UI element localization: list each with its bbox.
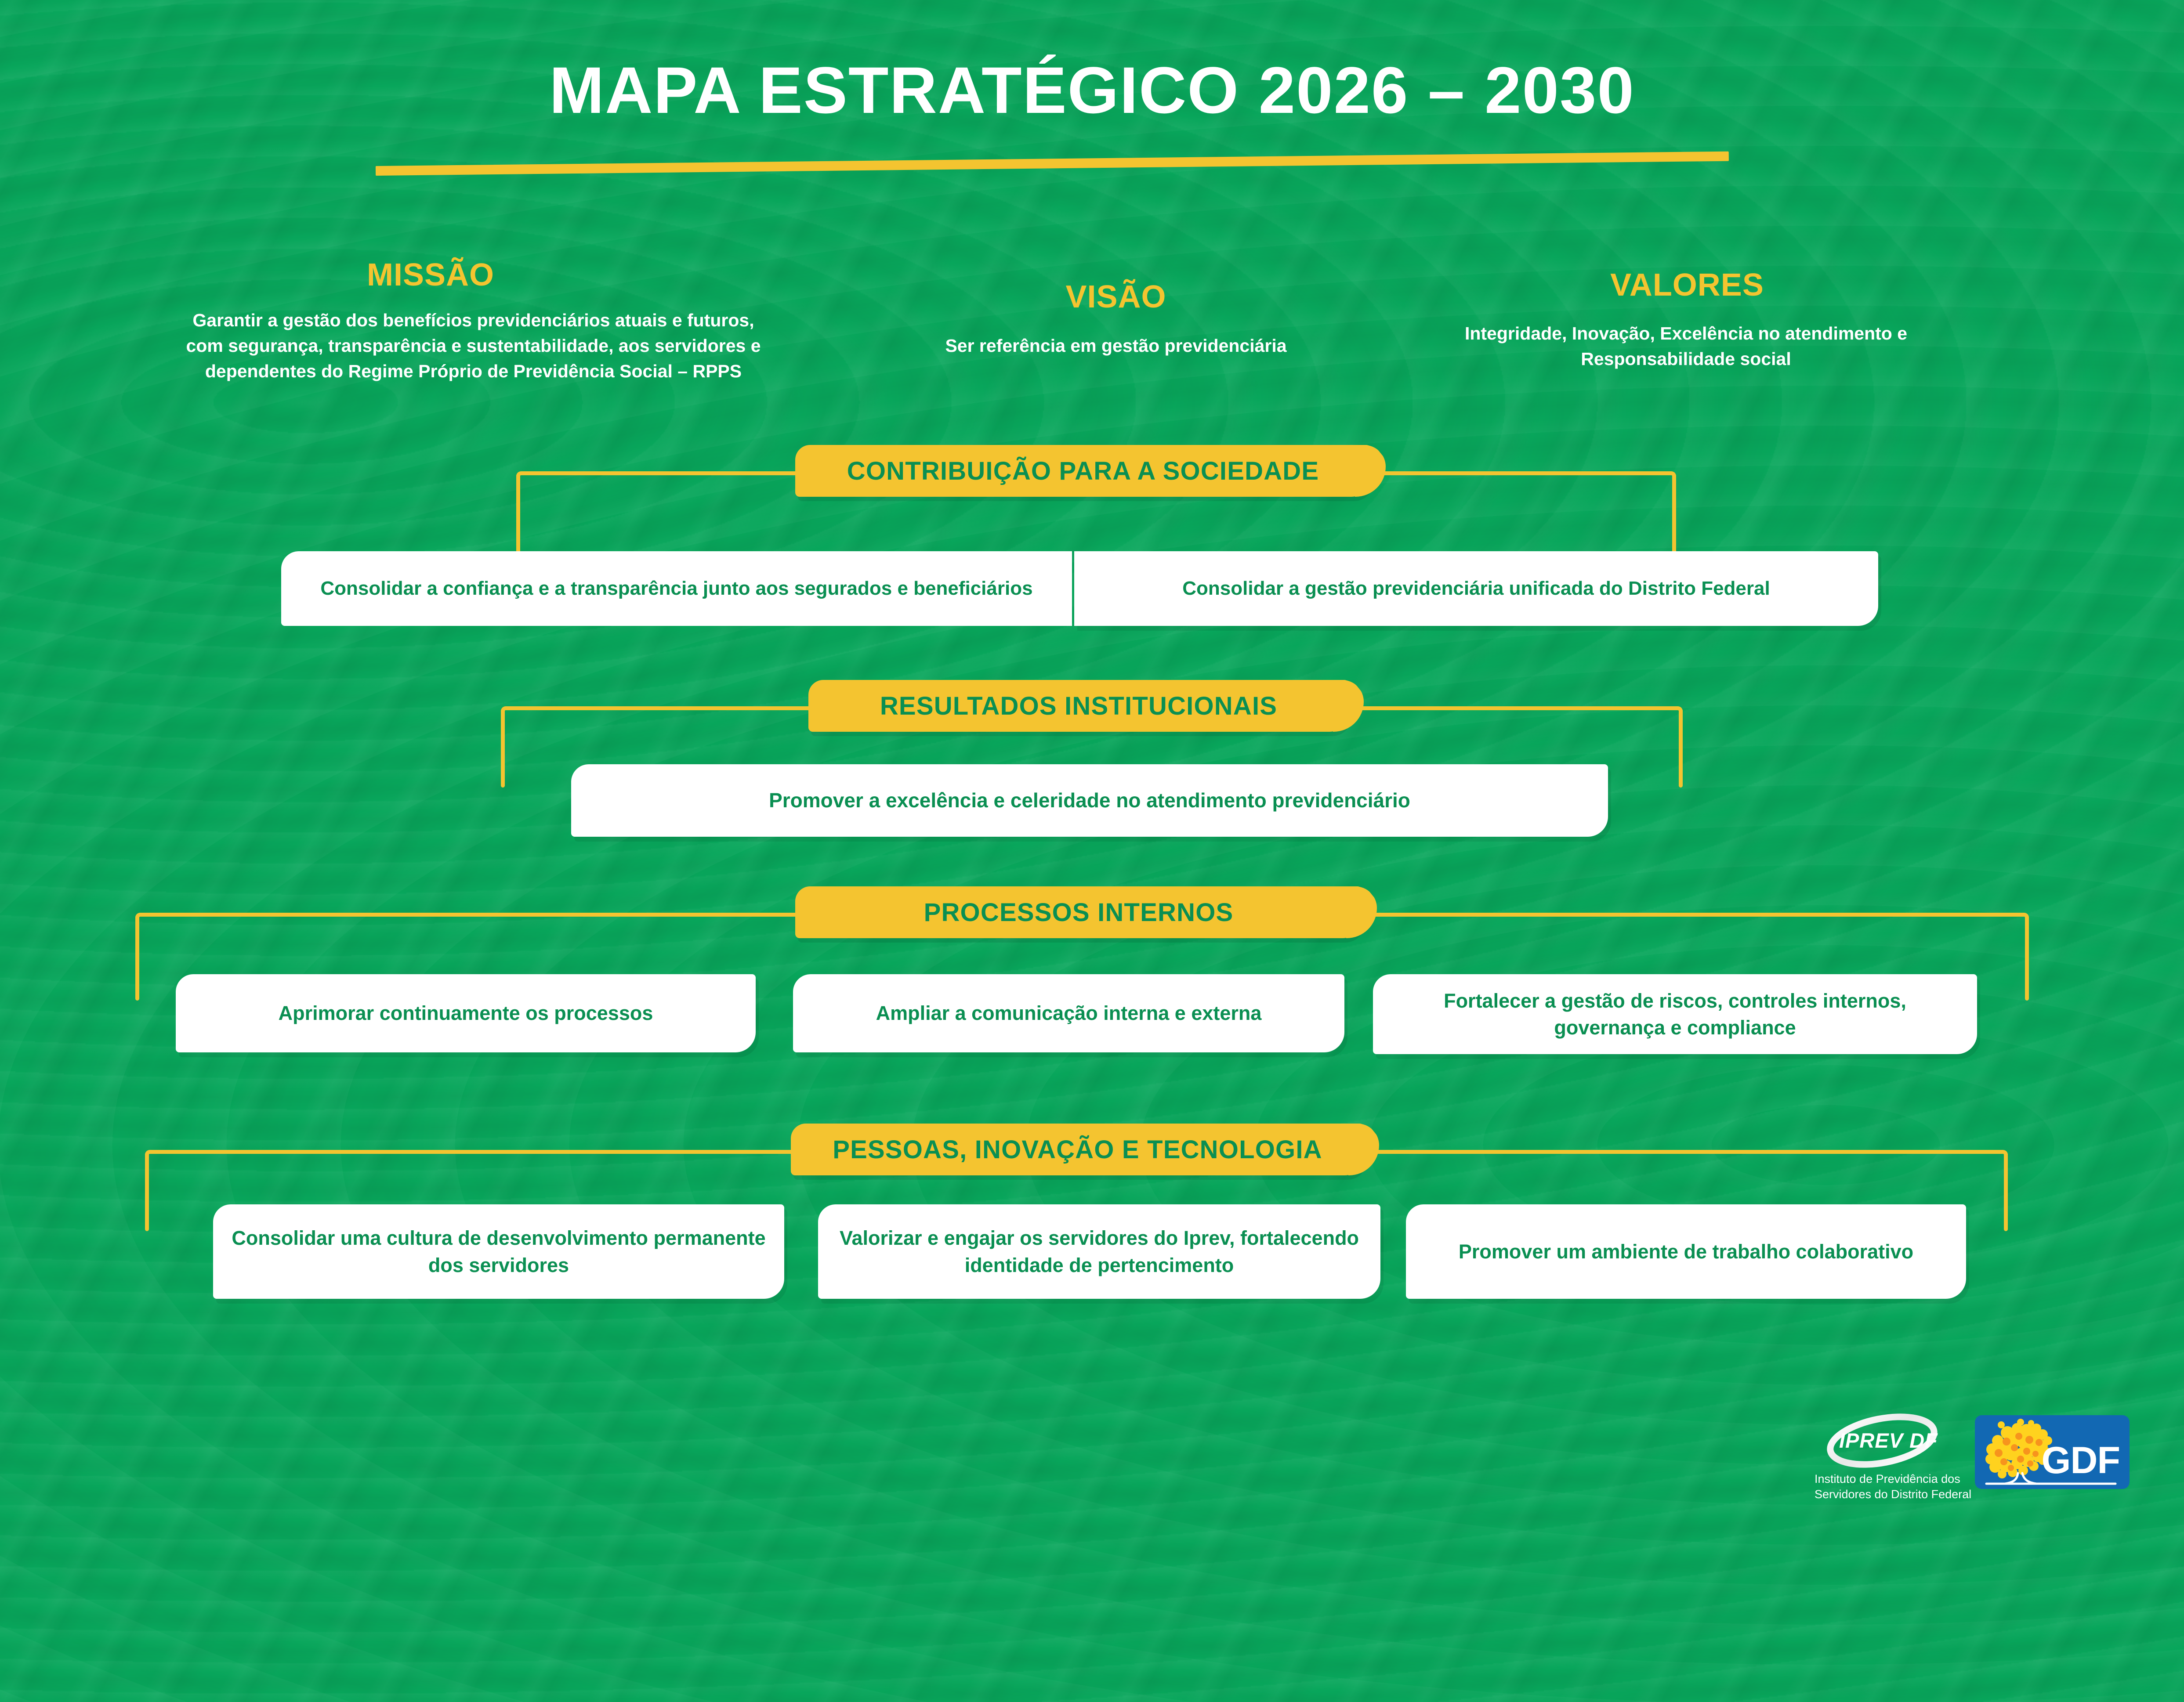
objective-card: Fortalecer a gestão de riscos, controles…	[1373, 974, 1977, 1054]
perspective-label: RESULTADOS INSTITUCIONAIS	[880, 691, 1277, 721]
objective-card: Valorizar e engajar os servidores do Ipr…	[818, 1204, 1380, 1299]
objective-card: Promover um ambiente de trabalho colabor…	[1406, 1204, 1966, 1299]
objective-text: Promover um ambiente de trabalho colabor…	[1459, 1238, 1913, 1265]
perspective-label: PESSOAS, INOVAÇÃO E TECNOLOGIA	[833, 1135, 1322, 1164]
perspective-banner-processos: PROCESSOS INTERNOS	[795, 886, 1362, 938]
objective-card: Aprimorar continuamente os processos	[176, 974, 756, 1052]
title-underline	[376, 152, 1729, 176]
mission-text: Garantir a gestão dos benefícios previde…	[174, 307, 773, 384]
objective-text: Valorizar e engajar os servidores do Ipr…	[833, 1225, 1365, 1278]
iprev-logo: IPREV DF Instituto de Previdência dos Se…	[1822, 1413, 1950, 1514]
vision-text: Ser referência em gestão previdenciária	[826, 333, 1406, 358]
objective-text: Ampliar a comunicação interna e externa	[876, 1000, 1262, 1026]
perspective-banner-pessoas: PESSOAS, INOVAÇÃO E TECNOLOGIA	[791, 1124, 1364, 1175]
vision-heading: VISÃO	[931, 279, 1300, 315]
gdf-wordmark: GDF	[2041, 1439, 2120, 1482]
objective-text: Consolidar a confiança e a transparência…	[320, 575, 1032, 602]
objective-card: Consolidar a gestão previdenciária unifi…	[1074, 551, 1878, 626]
iprev-subtitle: Instituto de Previdência dos Servidores …	[1815, 1471, 1971, 1502]
values-text: Integridade, Inovação, Excelência no ate…	[1450, 321, 1922, 372]
perspective-label: PROCESSOS INTERNOS	[924, 898, 1234, 927]
objective-text: Fortalecer a gestão de riscos, controles…	[1388, 987, 1962, 1041]
gdf-logo: GDF	[1975, 1415, 2130, 1489]
objective-text: Aprimorar continuamente os processos	[279, 1000, 653, 1026]
objective-text: Consolidar a gestão previdenciária unifi…	[1182, 575, 1770, 602]
objective-text: Promover a excelência e celeridade no at…	[769, 787, 1410, 814]
perspective-label: CONTRIBUIÇÃO PARA A SOCIEDADE	[847, 456, 1319, 486]
page-title: MAPA ESTRATÉGICO 2026 – 2030	[0, 57, 2184, 123]
perspective-banner-contribuicao: CONTRIBUIÇÃO PARA A SOCIEDADE	[795, 445, 1371, 497]
objective-text: Consolidar uma cultura de desenvolviment…	[228, 1225, 769, 1278]
objective-card: Consolidar a confiança e a transparência…	[281, 551, 1072, 626]
objective-card: Consolidar uma cultura de desenvolviment…	[213, 1204, 784, 1299]
perspective-banner-resultados: RESULTADOS INSTITUCIONAIS	[808, 680, 1349, 732]
values-heading: VALORES	[1503, 267, 1872, 303]
mission-heading: MISSÃO	[246, 257, 615, 293]
iprev-wordmark: IPREV DF	[1839, 1428, 1938, 1453]
objective-card: Ampliar a comunicação interna e externa	[793, 974, 1344, 1052]
objective-card: Promover a excelência e celeridade no at…	[571, 764, 1608, 837]
